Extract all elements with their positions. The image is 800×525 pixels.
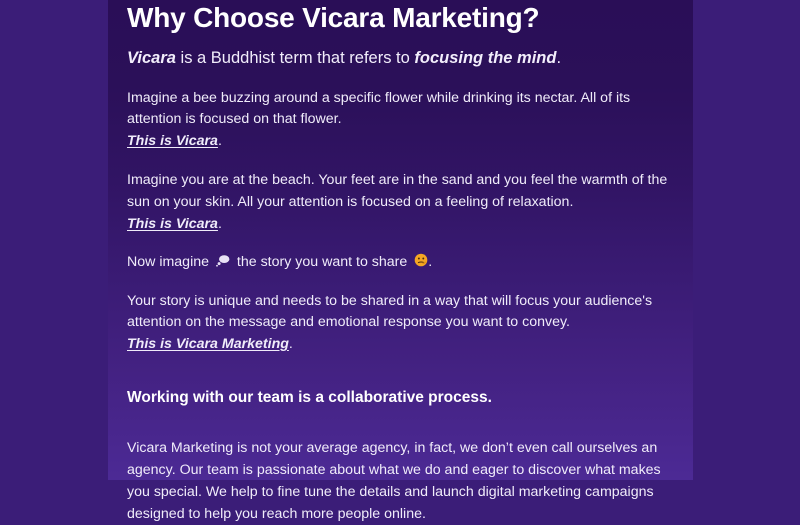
now-imagine-after-text: the story you want to share — [237, 254, 407, 270]
paragraph-bee: Imagine a bee buzzing around a specific … — [127, 88, 674, 153]
paragraph-bee-tagline-period: . — [218, 133, 222, 149]
thought-balloon-icon — [216, 254, 230, 267]
thinking-face-icon — [414, 253, 428, 267]
subtitle-middle-text: is a Buddhist term that refers to — [176, 49, 414, 67]
your-story-body: Your story is unique and needs to be sha… — [127, 293, 652, 331]
section-heading-collaborative-process: Working with our team is a collaborative… — [127, 388, 674, 408]
now-imagine-before-text: Now imagine — [127, 254, 209, 270]
subtitle-period: . — [556, 49, 561, 67]
article-subtitle: Vicara is a Buddhist term that refers to… — [127, 47, 674, 69]
paragraph-bee-tagline: This is Vicara — [127, 133, 218, 149]
paragraph-now-imagine: Now imagine the story you want to share … — [127, 252, 674, 274]
paragraph-your-story: Your story is unique and needs to be sha… — [127, 291, 674, 356]
subtitle-trailing-emphasis: focusing the mind — [414, 49, 556, 67]
subtitle-lead-emphasis: Vicara — [127, 49, 176, 67]
paragraph-beach-tagline-period: . — [218, 216, 222, 232]
page-root: Why Choose Vicara Marketing? Vicara is a… — [0, 0, 800, 480]
now-imagine-period: . — [428, 254, 432, 270]
paragraph-beach-body: Imagine you are at the beach. Your feet … — [127, 172, 667, 210]
paragraph-beach: Imagine you are at the beach. Your feet … — [127, 170, 674, 235]
paragraph-bee-body: Imagine a bee buzzing around a specific … — [127, 90, 630, 128]
your-story-tagline-period: . — [289, 336, 293, 352]
paragraph-beach-tagline: This is Vicara — [127, 216, 218, 232]
closing-paragraph: Vicara Marketing is not your average age… — [127, 437, 674, 525]
article-content-panel: Why Choose Vicara Marketing? Vicara is a… — [108, 0, 693, 480]
page-title: Why Choose Vicara Marketing? — [127, 0, 674, 33]
your-story-tagline: This is Vicara Marketing — [127, 336, 289, 352]
